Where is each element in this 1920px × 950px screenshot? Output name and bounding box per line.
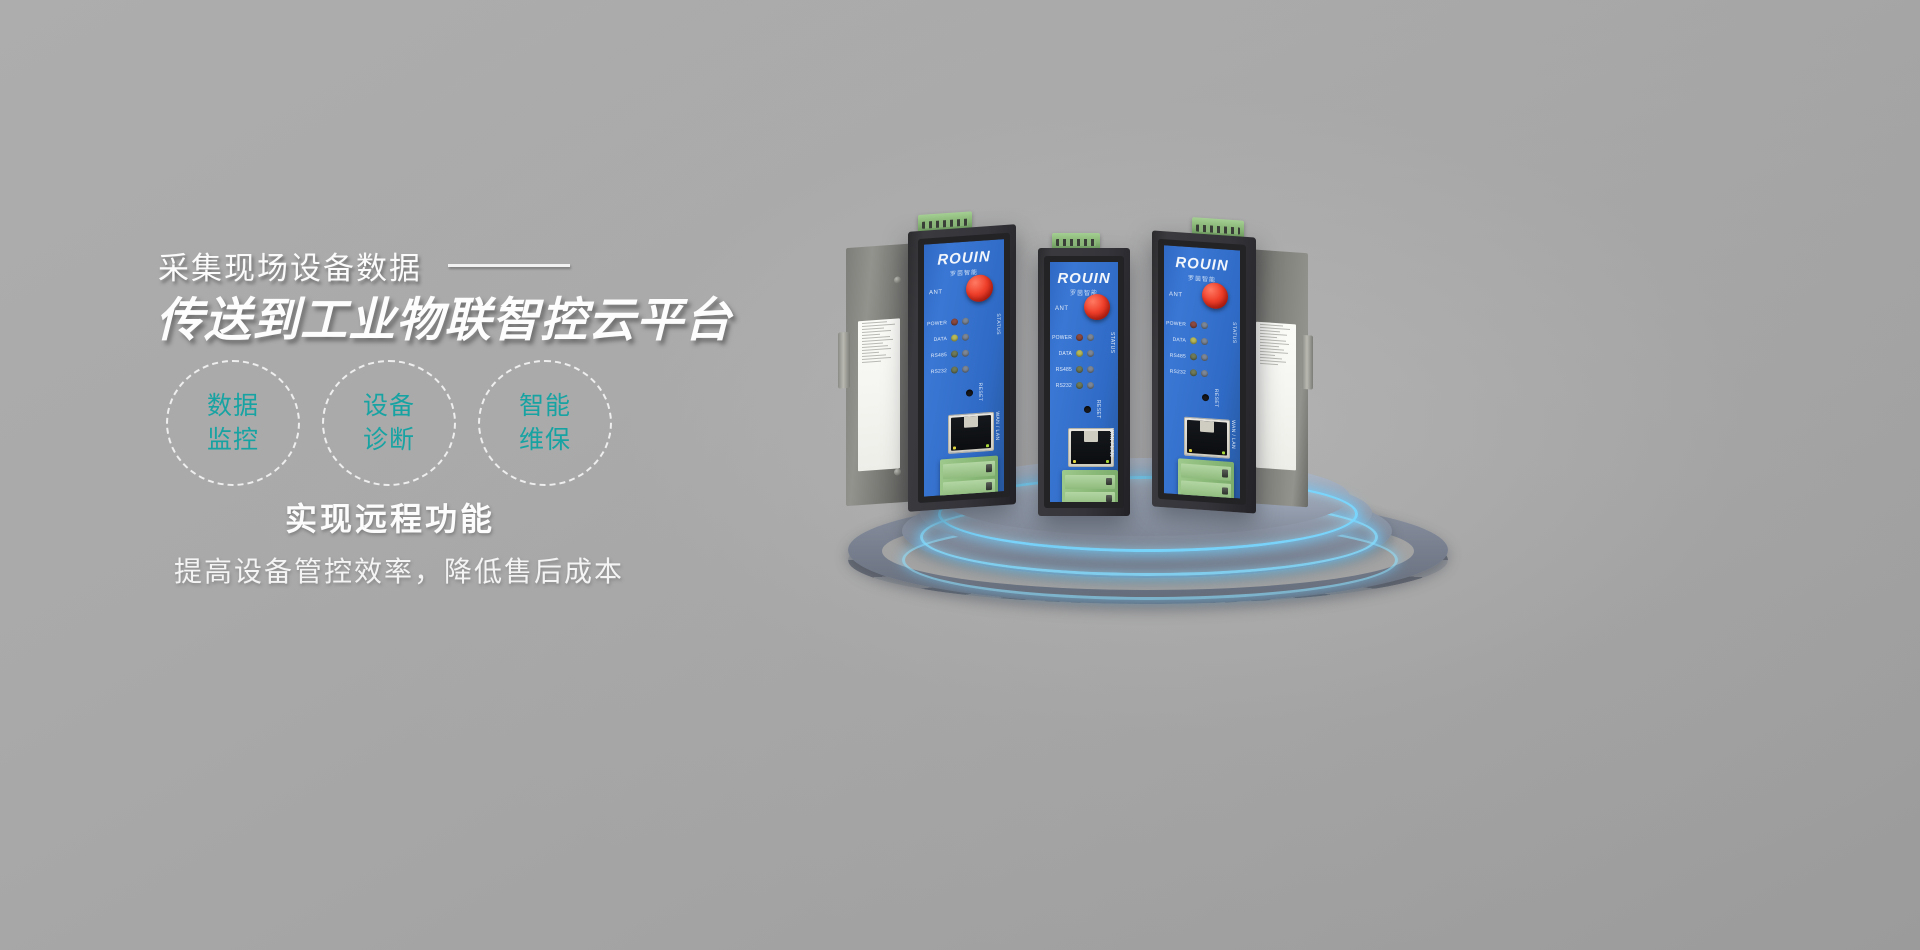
led-row-rs232: RS232 bbox=[927, 366, 969, 376]
led-indicator bbox=[962, 366, 969, 373]
device-front-panel: ROUIN 罗茵智能 ANT POWER DATA RS485 bbox=[918, 233, 1010, 503]
screw-terminal-block[interactable] bbox=[940, 455, 998, 503]
status-side-label: STATUS bbox=[1109, 332, 1115, 353]
led-indicator bbox=[951, 366, 958, 373]
iot-gateway-device-1[interactable]: ROUIN 罗茵智能 ANT POWER DATA RS485 bbox=[908, 224, 1016, 512]
banner-stage: 采集现场设备数据 传送到工业物联智控云平台 数据 监控 设备 诊断 智能 维保 … bbox=[0, 0, 1920, 950]
led-label: DATA bbox=[927, 336, 947, 343]
feature-label-line1: 智能 bbox=[519, 390, 571, 422]
iot-gateway-device-3[interactable]: ROUIN 罗茵智能 ANT POWER DATA RS485 bbox=[1152, 230, 1256, 513]
reset-side-label: RESET bbox=[1213, 389, 1219, 408]
led-row-power: POWER bbox=[927, 318, 969, 328]
led-indicator bbox=[1087, 366, 1094, 373]
device-front-panel: ROUIN 罗茵智能 ANT POWER DATA RS485 bbox=[1158, 239, 1246, 505]
device-spec-sticker bbox=[1256, 322, 1296, 471]
led-label: RS485 bbox=[1166, 352, 1186, 359]
brand-logo: ROUIN 罗茵智能 bbox=[1057, 271, 1110, 297]
led-indicator bbox=[951, 318, 958, 325]
reset-side-label: RESET bbox=[1095, 400, 1101, 419]
din-rail-clip bbox=[1302, 335, 1313, 390]
rj45-lan-port[interactable] bbox=[948, 412, 994, 454]
terminal-pin bbox=[1065, 492, 1115, 506]
terminal-pin bbox=[1181, 481, 1231, 499]
reset-button[interactable] bbox=[1084, 406, 1091, 413]
terminal-pin bbox=[1181, 463, 1231, 481]
feature-label-line1: 数据 bbox=[207, 390, 259, 422]
led-indicator bbox=[1201, 322, 1208, 329]
lan-side-label: WAN / LAN bbox=[994, 411, 1000, 440]
led-indicator bbox=[1087, 382, 1094, 389]
led-label: POWER bbox=[927, 320, 947, 327]
device-front-panel: ROUIN 罗茵智能 ANT POWER DATA RS485 bbox=[1044, 256, 1124, 508]
brand-logo: ROUIN 罗茵智能 bbox=[1175, 255, 1228, 285]
cta-title: 实现远程功能 bbox=[285, 494, 495, 540]
feature-circle-device-diagnosis[interactable]: 设备 诊断 bbox=[322, 360, 456, 486]
reset-button[interactable] bbox=[966, 389, 973, 396]
led-indicator bbox=[1190, 353, 1197, 360]
lan-side-label: WAN / LAN bbox=[1230, 420, 1236, 449]
led-row-data: DATA bbox=[1166, 335, 1208, 345]
led-indicator bbox=[1076, 382, 1083, 389]
led-label: RS232 bbox=[927, 368, 947, 375]
brand-name: ROUIN bbox=[1057, 271, 1110, 286]
led-label: POWER bbox=[1166, 320, 1186, 327]
led-indicator bbox=[1190, 369, 1197, 376]
status-side-label: STATUS bbox=[995, 313, 1001, 335]
led-indicator bbox=[1201, 338, 1208, 345]
led-indicator bbox=[1190, 337, 1197, 344]
screw-terminal-block[interactable] bbox=[1062, 470, 1118, 508]
led-indicator bbox=[1087, 350, 1094, 357]
led-indicator bbox=[1201, 354, 1208, 361]
feature-label-line2: 诊断 bbox=[363, 424, 415, 456]
led-label: RS485 bbox=[927, 352, 947, 359]
led-row-data: DATA bbox=[927, 334, 969, 344]
terminal-pin bbox=[943, 479, 995, 497]
feature-label-line2: 监控 bbox=[207, 424, 259, 456]
antenna-connector[interactable] bbox=[1202, 282, 1228, 310]
lan-side-label: WAN / LAN bbox=[1108, 428, 1114, 457]
led-indicator bbox=[962, 318, 969, 325]
led-row-rs485: RS485 bbox=[1052, 366, 1094, 373]
led-row-rs232: RS232 bbox=[1052, 382, 1094, 389]
rj45-lan-port[interactable] bbox=[1184, 417, 1230, 459]
led-label: POWER bbox=[1052, 335, 1072, 341]
led-row-power: POWER bbox=[1166, 319, 1208, 329]
led-label: RS232 bbox=[1166, 368, 1186, 375]
antenna-label: ANT bbox=[929, 289, 943, 296]
led-row-rs485: RS485 bbox=[927, 350, 969, 360]
led-label: RS232 bbox=[1052, 383, 1072, 389]
led-indicator bbox=[1076, 334, 1083, 341]
led-indicator bbox=[962, 334, 969, 341]
led-indicator bbox=[951, 334, 958, 341]
brand-name: ROUIN bbox=[937, 249, 990, 268]
led-indicator bbox=[1076, 350, 1083, 357]
led-indicator bbox=[1190, 321, 1197, 328]
led-label: DATA bbox=[1052, 351, 1072, 357]
brand-name: ROUIN bbox=[1175, 255, 1228, 274]
antenna-connector[interactable] bbox=[966, 274, 993, 303]
feature-label-line1: 设备 bbox=[363, 390, 415, 422]
led-indicator bbox=[1076, 366, 1083, 373]
led-indicator bbox=[1201, 370, 1208, 377]
feature-label-line2: 维保 bbox=[519, 424, 571, 456]
terminal-pin bbox=[943, 461, 995, 479]
feature-circle-smart-maintenance[interactable]: 智能 维保 bbox=[478, 360, 612, 486]
led-indicator bbox=[951, 350, 958, 357]
reset-side-label: RESET bbox=[977, 383, 983, 402]
headline-rule bbox=[448, 264, 570, 267]
led-row-power: POWER bbox=[1052, 334, 1094, 341]
terminal-pin bbox=[1065, 475, 1115, 489]
reset-button[interactable] bbox=[1202, 394, 1209, 401]
led-row-rs232: RS232 bbox=[1166, 367, 1208, 377]
din-rail-clip bbox=[838, 332, 850, 389]
feature-circle-group: 数据 监控 设备 诊断 智能 维保 bbox=[166, 360, 612, 486]
antenna-label: ANT bbox=[1055, 306, 1069, 312]
status-side-label: STATUS bbox=[1231, 322, 1237, 344]
screw-terminal-block[interactable] bbox=[1178, 458, 1234, 505]
antenna-label: ANT bbox=[1169, 292, 1183, 299]
device-spec-sticker bbox=[858, 318, 900, 471]
led-label: DATA bbox=[1166, 336, 1186, 343]
led-indicator bbox=[1087, 334, 1094, 341]
led-indicator bbox=[962, 350, 969, 357]
led-label: RS485 bbox=[1052, 367, 1072, 373]
led-row-rs485: RS485 bbox=[1166, 351, 1208, 361]
iot-gateway-device-2[interactable]: ROUIN 罗茵智能 ANT POWER DATA RS485 bbox=[1038, 248, 1130, 516]
product-scene: ROUIN 罗茵智能 ANT POWER DATA RS485 bbox=[790, 190, 1510, 640]
page-title: 传送到工业物联智控云平台 bbox=[156, 281, 732, 350]
feature-circle-data-monitoring[interactable]: 数据 监控 bbox=[166, 360, 300, 486]
left-text-panel: 采集现场设备数据 传送到工业物联智控云平台 数据 监控 设备 诊断 智能 维保 … bbox=[0, 0, 780, 950]
antenna-connector[interactable] bbox=[1084, 294, 1110, 320]
cta-subtitle: 提高设备管控效率，降低售后成本 bbox=[174, 550, 624, 590]
led-row-data: DATA bbox=[1052, 350, 1094, 357]
